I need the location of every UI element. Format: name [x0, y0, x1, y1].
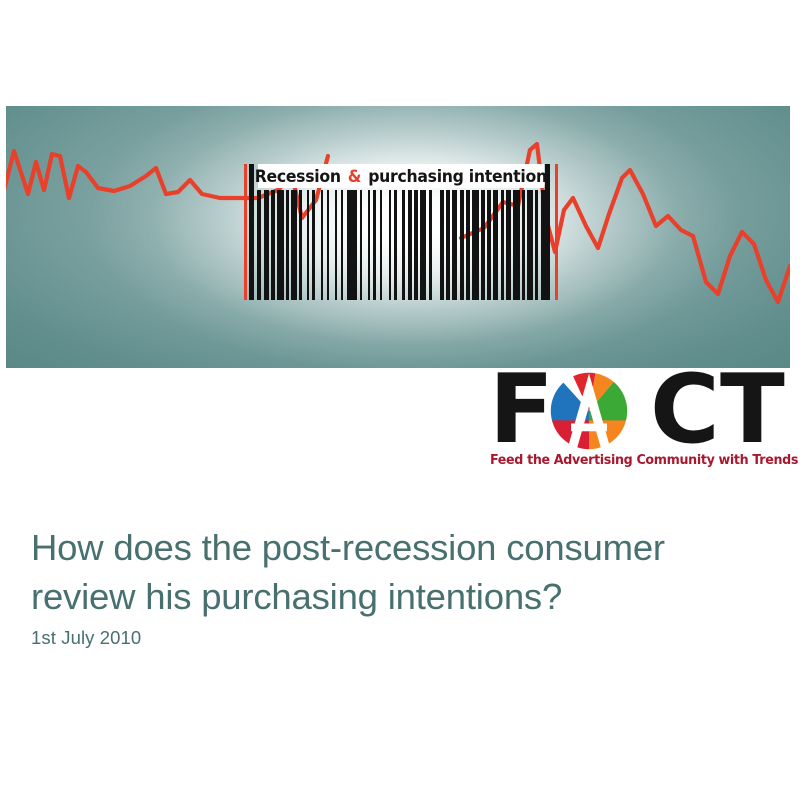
barcode-bar: [321, 190, 323, 300]
barcode-title-text: Recession & purchasing intention: [255, 167, 547, 186]
barcode-bar: [522, 190, 525, 300]
barcode-bar: [312, 190, 314, 300]
barcode-bar: [394, 190, 396, 300]
barcode-title: Recession & purchasing intention: [258, 164, 544, 188]
fact-a-circle-mark: [550, 372, 628, 450]
barcode-bar: [264, 190, 270, 300]
barcode-bar: [373, 190, 375, 300]
barcode-bar: [286, 190, 289, 300]
barcode-bar: [291, 190, 297, 300]
barcode-bar: [527, 190, 533, 300]
barcode-bar: [408, 190, 412, 300]
slide-root: Recession & purchasing intention F: [0, 0, 800, 800]
barcode-bar: [513, 190, 520, 300]
barcode-bar: [360, 190, 362, 300]
barcode-right-red-rail: [555, 164, 558, 300]
barcode-bar: [446, 190, 449, 300]
barcode-bar: [472, 190, 479, 300]
barcode-bars: [257, 190, 545, 300]
barcode-bar: [368, 190, 370, 300]
barcode-bar: [307, 190, 309, 300]
barcode-bar: [402, 190, 405, 300]
barcode-title-suffix: purchasing intention: [363, 167, 547, 186]
barcode-bar: [341, 190, 343, 300]
barcode-bar: [271, 190, 274, 300]
barcode-title-ampersand: &: [346, 167, 363, 186]
fact-letter-t: T: [720, 363, 781, 458]
barcode-bar: [429, 190, 432, 300]
barcode-bar: [535, 190, 538, 300]
barcode-bar: [347, 190, 357, 300]
barcode-bar: [380, 190, 382, 300]
barcode-graphic: Recession & purchasing intention: [244, 164, 560, 300]
barcode-bar: [541, 190, 545, 300]
fact-mark-segment-crimson-bottom: [550, 420, 589, 450]
barcode-bar: [414, 190, 417, 300]
barcode-left-guard-bar: [249, 164, 254, 300]
barcode-title-prefix: Recession: [255, 167, 346, 186]
barcode-bar: [487, 190, 490, 300]
barcode-bar: [493, 190, 499, 300]
barcode-left-red-rail: [244, 164, 247, 300]
fact-tagline: Feed the Advertising Community with Tren…: [490, 453, 778, 468]
barcode-bar: [506, 190, 510, 300]
barcode-bar: [466, 190, 469, 300]
barcode-bar: [257, 190, 261, 300]
barcode-bar: [389, 190, 391, 300]
barcode-bar: [299, 190, 302, 300]
fact-logo: F: [489, 369, 791, 475]
fact-wordmark: F: [489, 369, 791, 453]
barcode-bar: [277, 190, 284, 300]
slide-date: 1st July 2010: [31, 627, 141, 649]
barcode-bar: [440, 190, 444, 300]
hero-banner: Recession & purchasing intention: [6, 106, 790, 368]
page-title: How does the post-recession consumer rev…: [31, 524, 761, 621]
barcode-bar: [481, 190, 485, 300]
barcode-bar: [335, 190, 337, 300]
fact-letter-c: C: [650, 363, 716, 458]
barcode-bar: [327, 190, 329, 300]
barcode-bar: [452, 190, 458, 300]
barcode-bar: [420, 190, 427, 300]
barcode-bar: [460, 190, 464, 300]
fact-mark-segment-orange-bottom: [589, 420, 628, 450]
barcode-bar: [501, 190, 504, 300]
fact-letter-f: F: [489, 363, 550, 458]
